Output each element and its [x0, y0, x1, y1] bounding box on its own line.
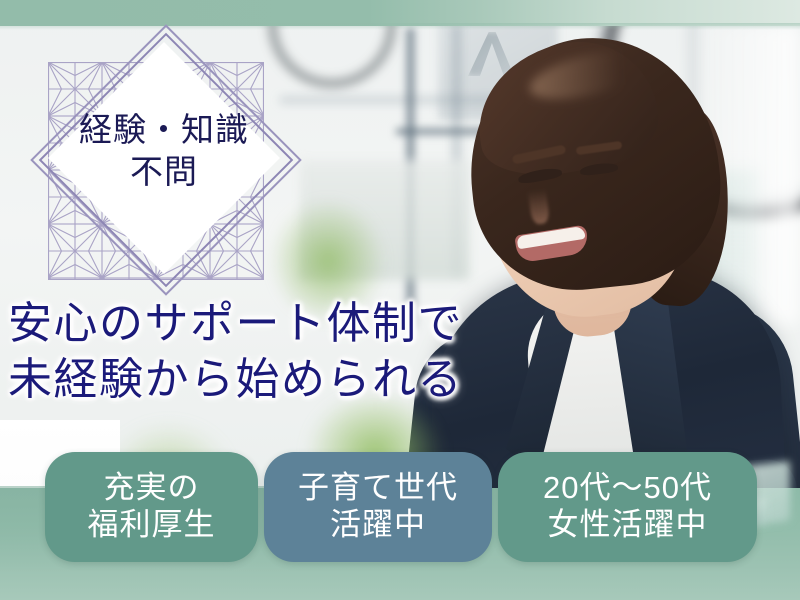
- badge-text: 経験・知識 不問: [44, 110, 284, 194]
- pill-benefits[interactable]: 充実の 福利厚生: [45, 452, 258, 562]
- recruitment-banner: 経験・知識 不問 安心のサポート体制で 未経験から始められる 充実の 福利厚生 …: [0, 0, 800, 600]
- main-headline: 安心のサポート体制で 未経験から始められる: [8, 296, 568, 409]
- pill-childcare[interactable]: 子育て世代 活躍中: [264, 452, 492, 562]
- pill-age-range[interactable]: 20代〜50代 女性活躍中: [498, 452, 757, 562]
- feature-pill-group: 充実の 福利厚生 子育て世代 活躍中 20代〜50代 女性活躍中: [0, 452, 800, 570]
- experience-badge: 経験・知識 不問: [44, 28, 284, 290]
